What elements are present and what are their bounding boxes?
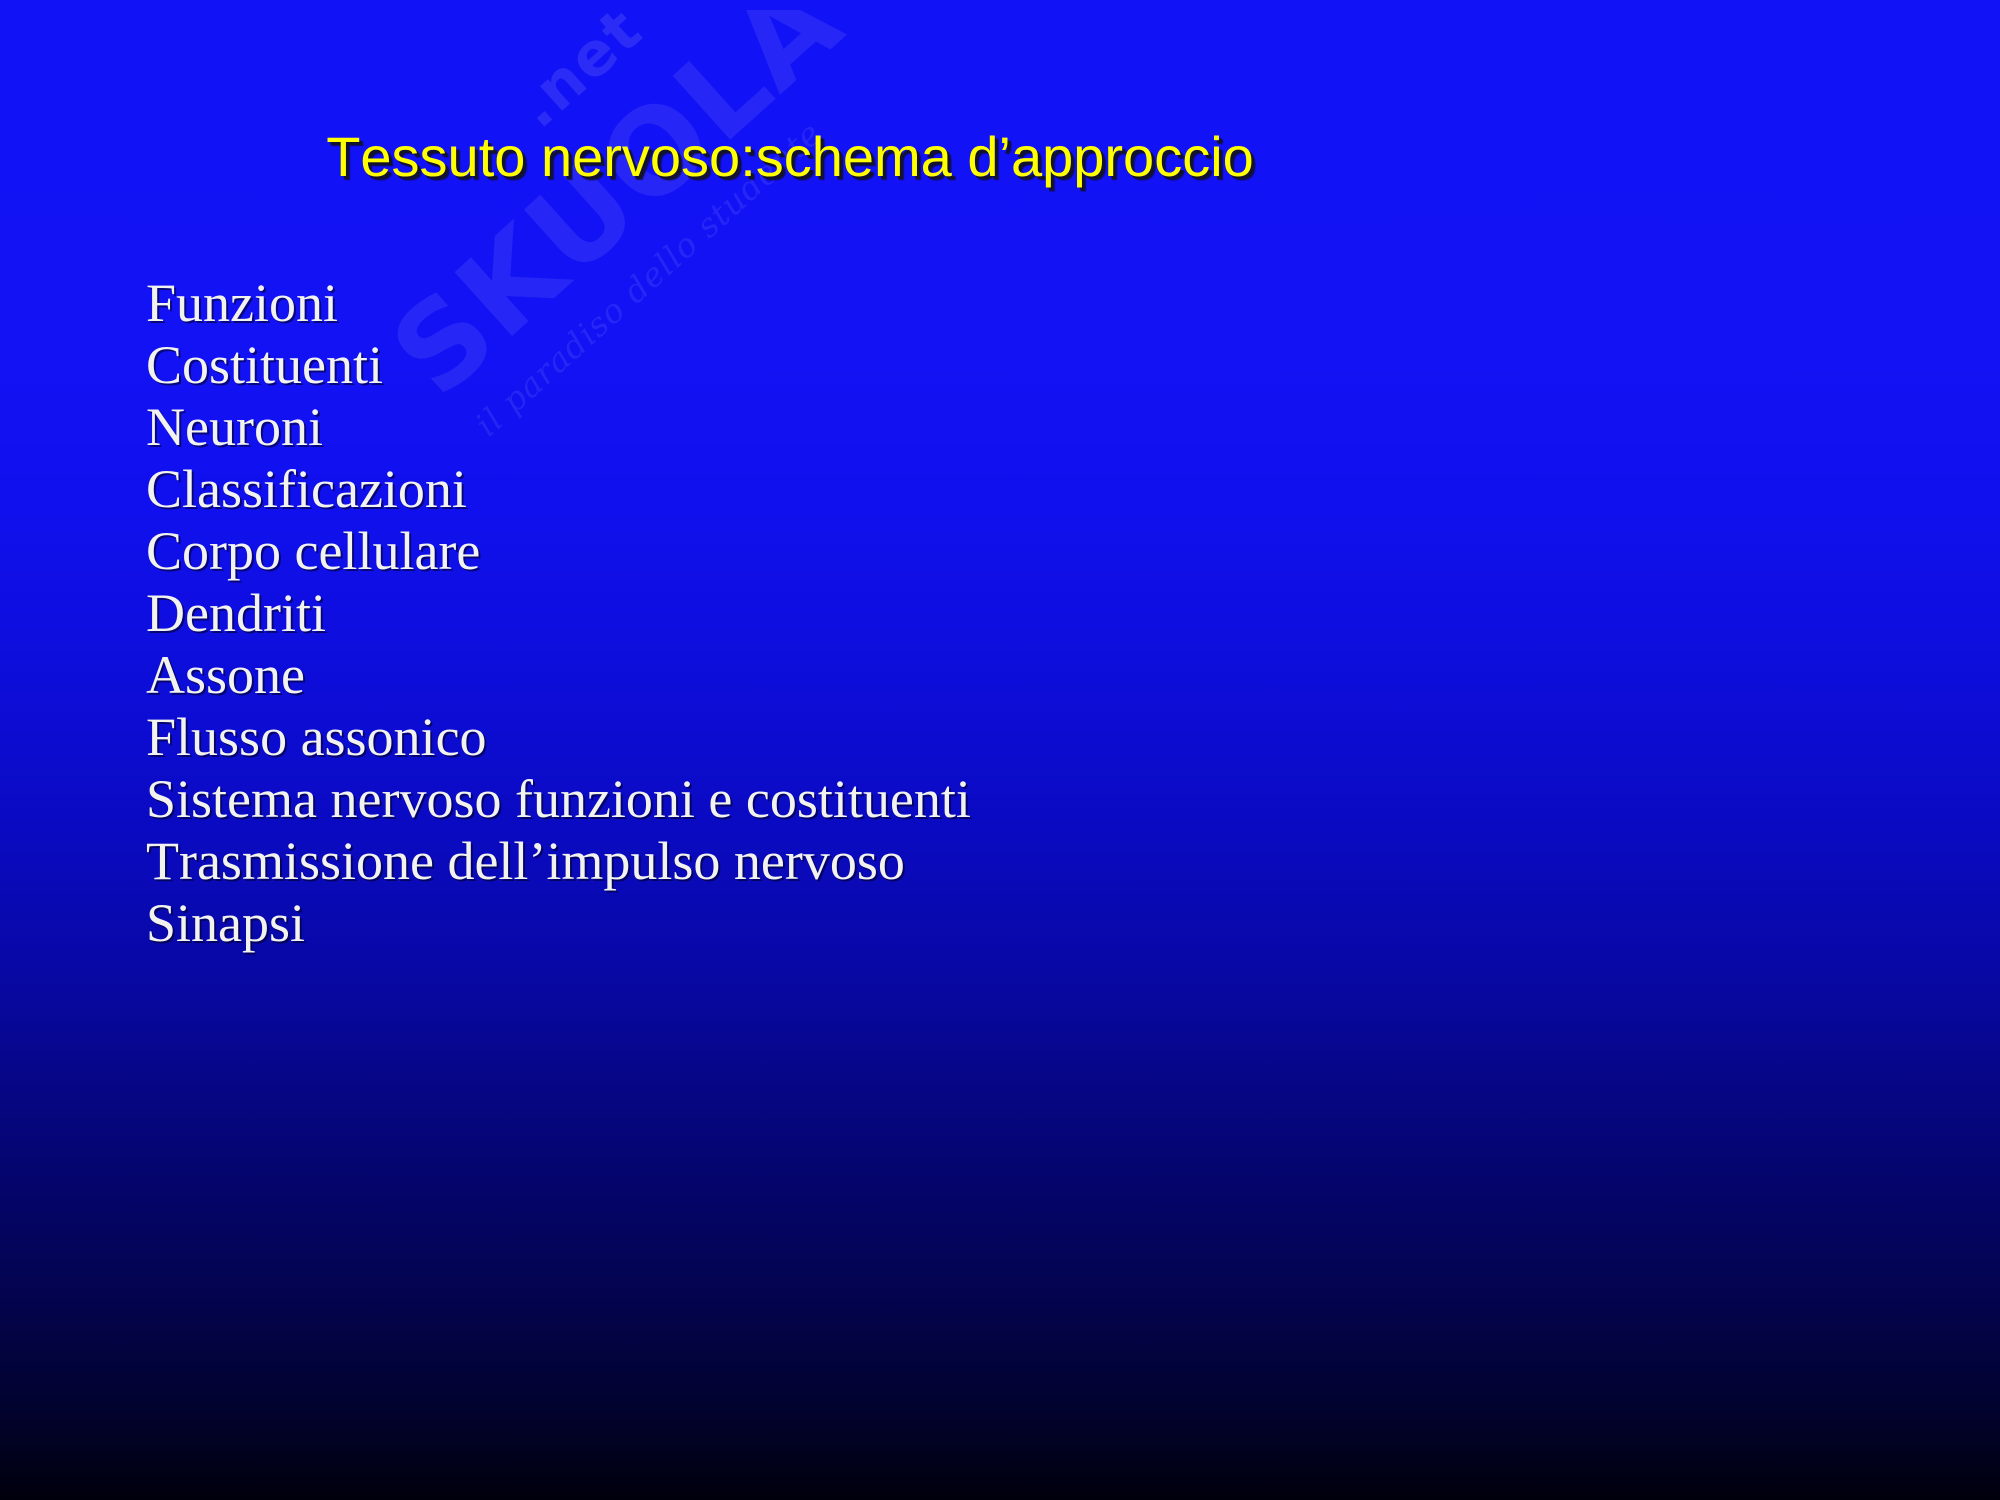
list-item: Neuroni bbox=[146, 396, 1846, 458]
presentation-slide: SKUOLA .net il paradiso dello studente T… bbox=[0, 0, 2000, 1500]
list-item: Corpo cellulare bbox=[146, 520, 1846, 582]
list-item: Assone bbox=[146, 644, 1846, 706]
list-item: Trasmissione dell’impulso nervoso bbox=[146, 830, 1846, 892]
list-item: Costituenti bbox=[146, 334, 1846, 396]
list-item: Classificazioni bbox=[146, 458, 1846, 520]
slide-title: Tessuto nervoso:schema d’approccio bbox=[0, 128, 1580, 187]
slide-content-list: Funzioni Costituenti Neuroni Classificaz… bbox=[146, 272, 1846, 954]
list-item: Flusso assonico bbox=[146, 706, 1846, 768]
list-item: Sinapsi bbox=[146, 892, 1846, 954]
list-item: Sistema nervoso funzioni e costituenti bbox=[146, 768, 1846, 830]
list-item: Dendriti bbox=[146, 582, 1846, 644]
list-item: Funzioni bbox=[146, 272, 1846, 334]
watermark-domain-text: .net bbox=[506, 10, 652, 138]
